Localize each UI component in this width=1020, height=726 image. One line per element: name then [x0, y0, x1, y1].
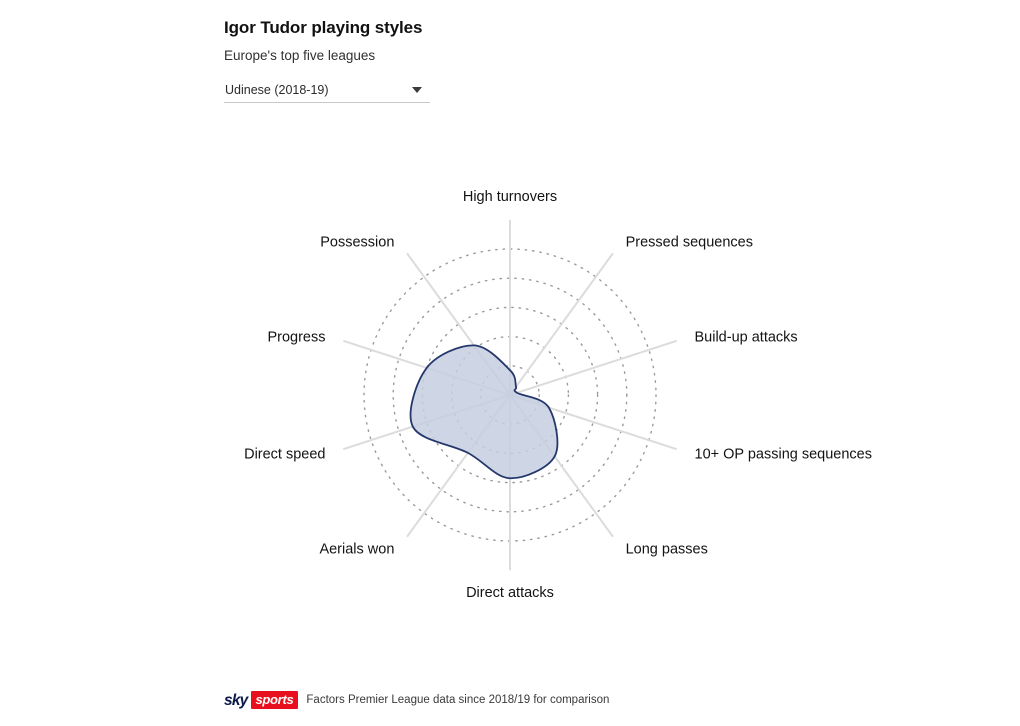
chevron-down-icon[interactable]: [412, 87, 422, 93]
radar-axis-label: Progress: [267, 329, 325, 345]
page-title: Igor Tudor playing styles: [224, 16, 824, 40]
radar-label-leader: [343, 341, 371, 350]
radar-label-leader: [649, 341, 677, 350]
radar-axis-label: Aerials won: [319, 542, 394, 558]
sky-logo-word: sky: [224, 692, 251, 709]
radar-label-leader: [407, 513, 424, 537]
radar-axis-spoke: [510, 350, 649, 395]
radar-axis-label: Possession: [320, 234, 394, 250]
radar-axis-spoke: [510, 277, 596, 395]
radar-chart-svg: High turnoversPressed sequencesBuild-up …: [0, 150, 1020, 650]
radar-label-leader: [596, 513, 613, 537]
footer: sky sports Factors Premier League data s…: [224, 690, 609, 710]
radar-label-leader: [343, 440, 371, 449]
radar-series-area: [411, 345, 558, 478]
radar-chart: High turnoversPressed sequencesBuild-up …: [0, 150, 1020, 650]
radar-axis-label: High turnovers: [463, 189, 557, 205]
radar-axis-label: Direct attacks: [466, 585, 554, 601]
chart-subtitle: Europe's top five leagues: [224, 46, 824, 66]
radar-axis-labels: High turnoversPressed sequencesBuild-up …: [244, 189, 872, 601]
team-select-value: Udinese (2018-19): [224, 83, 329, 97]
team-select-dropdown[interactable]: Udinese (2018-19): [224, 78, 430, 103]
radar-label-leader: [596, 253, 613, 277]
sports-logo-badge: sports: [251, 691, 298, 709]
radar-label-leader: [649, 440, 677, 449]
footer-note: Factors Premier League data since 2018/1…: [306, 692, 609, 708]
radar-axis-label: Direct speed: [244, 447, 325, 463]
radar-label-leader: [407, 253, 424, 277]
radar-axis-label: Pressed sequences: [626, 234, 753, 250]
sky-sports-logo: sky sports: [224, 692, 298, 709]
radar-axis-label: Build-up attacks: [695, 329, 798, 345]
radar-axis-label: Long passes: [626, 542, 708, 558]
chart-header: Igor Tudor playing styles Europe's top f…: [224, 16, 824, 66]
radar-axis-label: 10+ OP passing sequences: [695, 447, 872, 463]
